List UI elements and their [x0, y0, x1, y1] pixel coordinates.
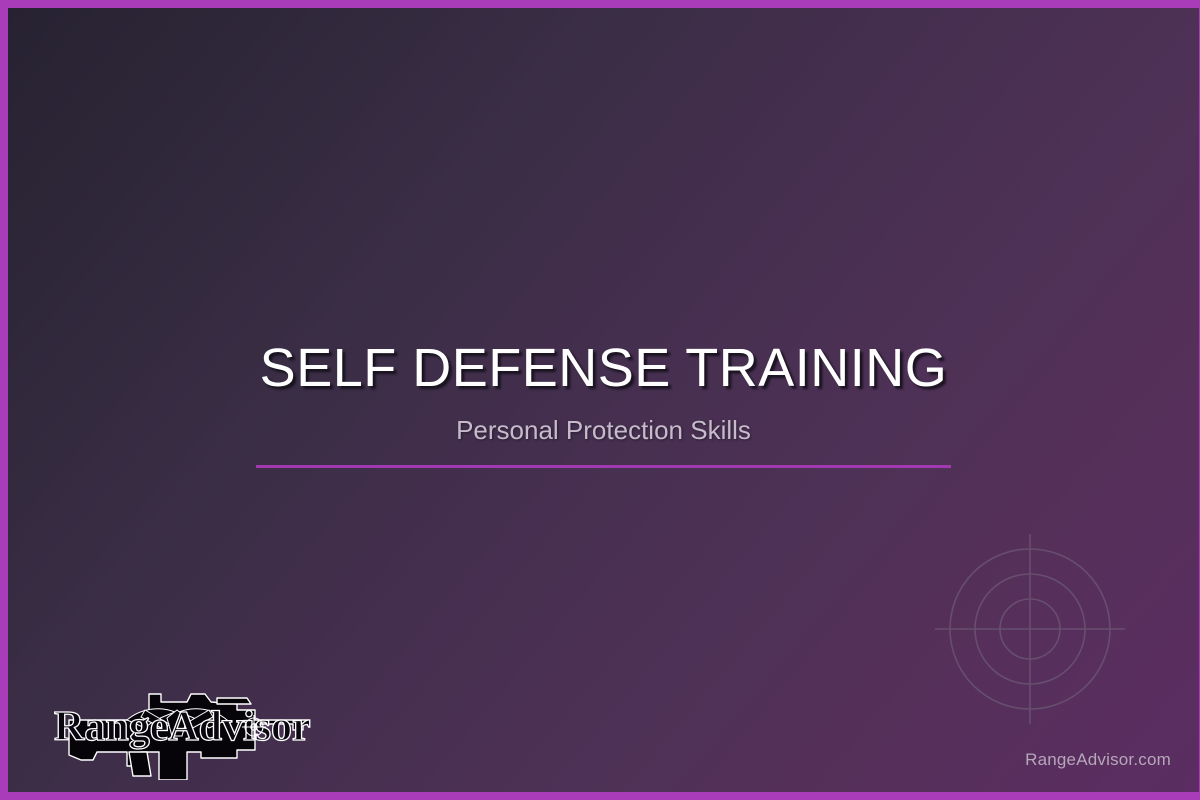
page-title: SELF DEFENSE TRAINING [8, 340, 1199, 397]
page-subtitle: Personal Protection Skills [8, 415, 1199, 446]
title-block: SELF DEFENSE TRAINING Personal Protectio… [8, 340, 1199, 468]
footer-url: RangeAdvisor.com [1025, 750, 1171, 770]
logo-wordmark: RangeAdvisor [54, 704, 311, 750]
crosshair-target-icon [935, 534, 1125, 724]
title-slide: SELF DEFENSE TRAINING Personal Protectio… [0, 0, 1200, 800]
title-divider [256, 465, 951, 468]
slide-canvas: SELF DEFENSE TRAINING Personal Protectio… [8, 8, 1199, 792]
rifle-logo-icon: RangeAdvisor [41, 680, 316, 780]
